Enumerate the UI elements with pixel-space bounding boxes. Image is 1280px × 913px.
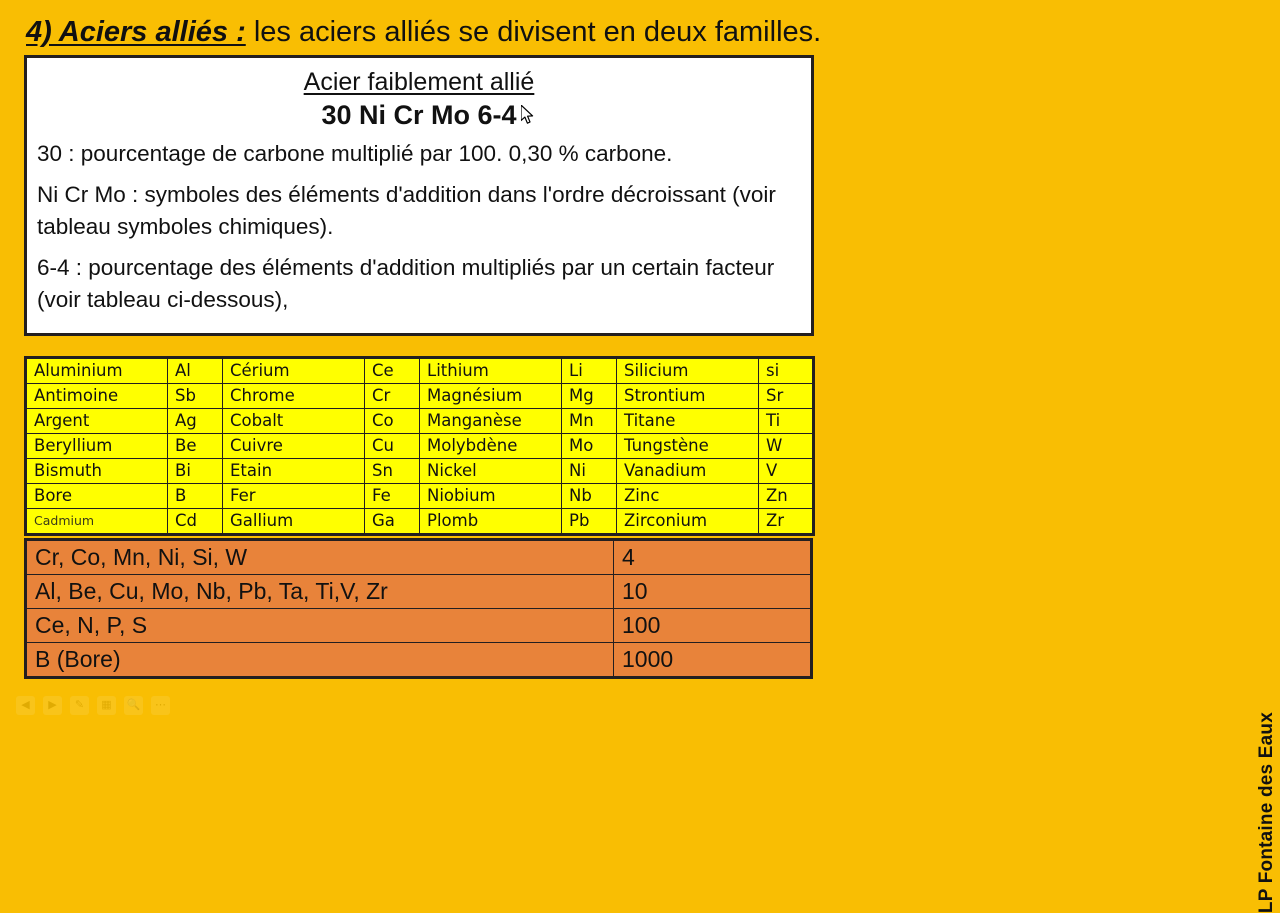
more-options-button[interactable]: ⋯ [151,696,170,715]
pen-tool-button[interactable]: ✎ [70,696,89,715]
presenter-controls-bar[interactable]: ◀ ▶ ✎ ▦ 🔍 ⋯ [16,696,170,715]
school-name-label: LP Fontaine des Eaux [1256,712,1278,913]
previous-slide-button[interactable]: ◀ [16,696,35,715]
definition-heading: Acier faiblement allié [37,66,801,98]
element-symbol: Al [168,358,223,384]
multiplier-factor-table: Cr, Co, Mn, Ni, Si, W 4 Al, Be, Cu, Mo, … [24,538,813,679]
chemical-symbols-table: Aluminium Al Cérium Ce Lithium Li Silici… [24,356,815,536]
element-symbol: Li [562,358,617,384]
table-row: Beryllium Be Cuivre Cu Molybdène Mo Tung… [26,434,814,459]
next-slide-icon: ▶ [48,700,56,711]
element-symbol: Be [168,434,223,459]
element-name: Vanadium [617,459,759,484]
element-name: Bore [26,484,168,509]
table-row: Argent Ag Cobalt Co Manganèse Mn Titane … [26,409,814,434]
factor-elements: B (Bore) [26,643,614,678]
definition-paragraph-symbols: Ni Cr Mo : symboles des éléments d'addit… [37,179,801,243]
table-row: Ce, N, P, S 100 [26,609,812,643]
table-row: Cadmium Cd Gallium Ga Plomb Pb Zirconium… [26,509,814,535]
element-name: Cobalt [223,409,365,434]
element-name: Cérium [223,358,365,384]
factor-elements: Cr, Co, Mn, Ni, Si, W [26,540,614,575]
element-name: Cadmium [26,509,168,535]
element-symbol: Sr [759,384,814,409]
element-name: Argent [26,409,168,434]
page-title: 4) Aciers alliés : les aciers alliés se … [26,14,1206,50]
element-name: Silicium [617,358,759,384]
table-row: Bismuth Bi Etain Sn Nickel Ni Vanadium V [26,459,814,484]
element-name: Plomb [420,509,562,535]
element-name: Cuivre [223,434,365,459]
element-name: Fer [223,484,365,509]
element-name: Niobium [420,484,562,509]
element-name: Molybdène [420,434,562,459]
previous-slide-icon: ◀ [21,700,29,711]
element-name: Beryllium [26,434,168,459]
table-row: Cr, Co, Mn, Ni, Si, W 4 [26,540,812,575]
factor-elements: Ce, N, P, S [26,609,614,643]
element-symbol: Cr [365,384,420,409]
table-row: Al, Be, Cu, Mo, Nb, Pb, Ta, Ti,V, Zr 10 [26,575,812,609]
element-symbol: V [759,459,814,484]
element-name: Manganèse [420,409,562,434]
page-title-rest: les aciers alliés se divisent en deux fa… [246,16,821,48]
element-name: Tungstène [617,434,759,459]
factor-value: 100 [614,609,812,643]
element-name: Strontium [617,384,759,409]
element-symbol: W [759,434,814,459]
table-row: B (Bore) 1000 [26,643,812,678]
element-name: Chrome [223,384,365,409]
element-symbol: Sn [365,459,420,484]
factor-value: 4 [614,540,812,575]
definition-paragraph-carbon: 30 : pourcentage de carbone multiplié pa… [37,138,801,170]
factor-value: 10 [614,575,812,609]
element-symbol: Ce [365,358,420,384]
element-name: Magnésium [420,384,562,409]
element-symbol: Mn [562,409,617,434]
element-name: Antimoine [26,384,168,409]
element-symbol: Ga [365,509,420,535]
element-name: Gallium [223,509,365,535]
element-symbol: Cd [168,509,223,535]
element-symbol: Zn [759,484,814,509]
element-symbol: Zr [759,509,814,535]
element-name: Zinc [617,484,759,509]
definition-paragraph-factors: 6-4 : pourcentage des éléments d'additio… [37,252,801,316]
element-symbol: Nb [562,484,617,509]
element-symbol: Bi [168,459,223,484]
pen-icon: ✎ [75,700,84,711]
element-symbol: Ni [562,459,617,484]
element-name: Zirconium [617,509,759,535]
element-name: Nickel [420,459,562,484]
element-symbol: Pb [562,509,617,535]
magnifier-icon: 🔍 [127,700,141,711]
element-symbol: Ag [168,409,223,434]
element-symbol: Sb [168,384,223,409]
zoom-button[interactable]: 🔍 [124,696,143,715]
element-name: Aluminium [26,358,168,384]
element-symbol: Mg [562,384,617,409]
element-symbol: Co [365,409,420,434]
element-name: Titane [617,409,759,434]
factor-elements: Al, Be, Cu, Mo, Nb, Pb, Ta, Ti,V, Zr [26,575,614,609]
ellipsis-icon: ⋯ [155,700,166,711]
grid-icon: ▦ [101,700,111,711]
element-name: Etain [223,459,365,484]
table-row: Antimoine Sb Chrome Cr Magnésium Mg Stro… [26,384,814,409]
element-symbol: Ti [759,409,814,434]
element-name: Lithium [420,358,562,384]
definition-box: Acier faiblement allié 30 Ni Cr Mo 6-4 3… [24,55,814,336]
steel-designation: 30 Ni Cr Mo 6-4 [37,98,801,132]
table-row: Bore B Fer Fe Niobium Nb Zinc Zn [26,484,814,509]
next-slide-button[interactable]: ▶ [43,696,62,715]
element-symbol: Cu [365,434,420,459]
slide-grid-button[interactable]: ▦ [97,696,116,715]
element-symbol: si [759,358,814,384]
page-title-emphasis: 4) Aciers alliés : [26,16,246,48]
table-row: Aluminium Al Cérium Ce Lithium Li Silici… [26,358,814,384]
element-symbol: Mo [562,434,617,459]
element-name: Bismuth [26,459,168,484]
element-symbol: Fe [365,484,420,509]
element-symbol: B [168,484,223,509]
factor-value: 1000 [614,643,812,678]
